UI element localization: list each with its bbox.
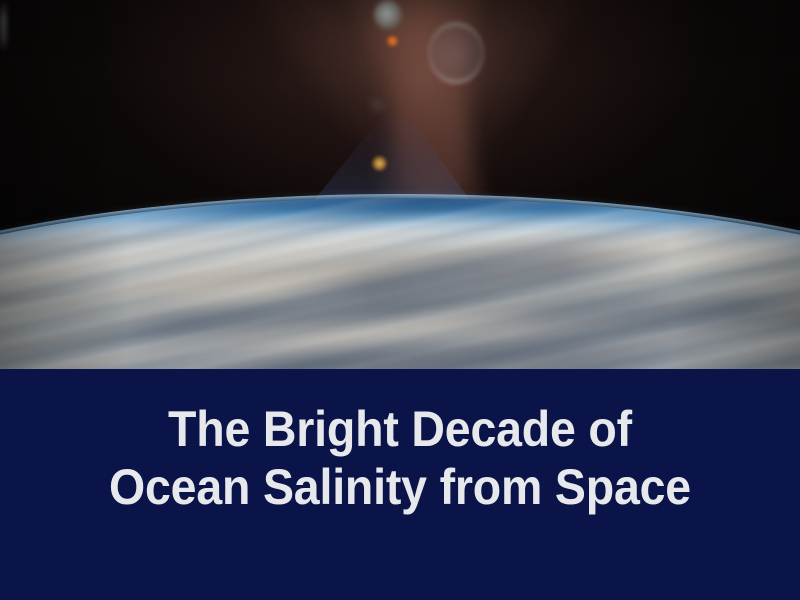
oval-flare-ghost-icon <box>428 22 484 84</box>
teal-flare-ghost-icon <box>374 0 402 30</box>
orange-flare-dot-icon <box>386 35 399 47</box>
oval-flare-streak-icon <box>0 0 7 52</box>
page-title-line-2: Ocean Salinity from Space <box>28 458 772 516</box>
earth-from-space-photo <box>0 0 800 369</box>
title-slide: The Bright Decade of Ocean Salinity from… <box>0 0 800 600</box>
page-title-line-1: The Bright Decade of <box>28 400 772 458</box>
gold-flare-dot-upper-icon <box>372 156 387 171</box>
dim-flare-ghost-icon <box>368 96 386 114</box>
title-band: The Bright Decade of Ocean Salinity from… <box>0 369 800 600</box>
